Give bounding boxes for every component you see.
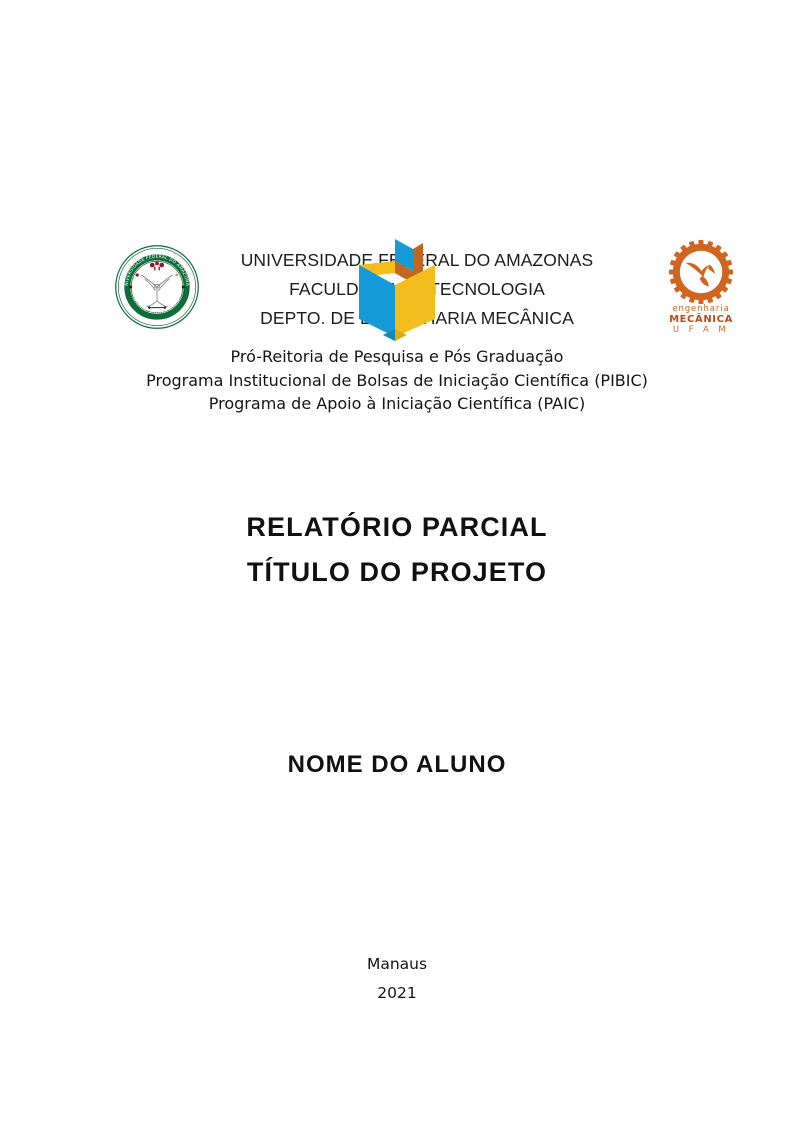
ufam-seal-icon: UNIVERSIDADE FEDERAL DO AMAZONAS IN LIMI… <box>114 244 200 330</box>
footer-city: Manaus <box>0 950 794 979</box>
report-type-title: RELATÓRIO PARCIAL <box>0 505 794 550</box>
project-title: TÍTULO DO PROJETO <box>0 550 794 595</box>
gear-logo-line-1: engenharia <box>655 305 747 314</box>
footer-year: 2021 <box>0 979 794 1008</box>
header-band: UNIVERSIDADE FEDERAL DO AMAZONAS IN LIMI… <box>0 118 794 224</box>
program-line-2: Programa Institucional de Bolsas de Inic… <box>0 369 794 393</box>
footer-block: Manaus 2021 <box>0 950 794 1008</box>
mechanical-engineering-logo: engenharia MECÂNICA U F A M <box>655 240 747 336</box>
report-cover-page: UNIVERSIDADE FEDERAL DO AMAZONAS IN LIMI… <box>0 0 794 1123</box>
gear-logo-line-2: MECÂNICA <box>655 315 747 325</box>
mechanical-engineering-wordmark: engenharia MECÂNICA U F A M <box>655 305 747 334</box>
page-title: RELATÓRIO PARCIAL TÍTULO DO PROJETO <box>0 505 794 595</box>
program-line-3: Programa de Apoio à Iniciação Científica… <box>0 392 794 416</box>
mechanical-engineering-gear-icon <box>669 240 733 304</box>
author-block: NOME DO ALUNO <box>0 748 794 782</box>
program-heading: Pró-Reitoria de Pesquisa e Pós Graduação… <box>0 345 794 416</box>
author-name: NOME DO ALUNO <box>0 748 794 782</box>
gear-logo-line-3: U F A M <box>655 326 747 335</box>
program-line-1: Pró-Reitoria de Pesquisa e Pós Graduação <box>0 345 794 369</box>
propesp-isometric-book-icon <box>349 237 445 341</box>
